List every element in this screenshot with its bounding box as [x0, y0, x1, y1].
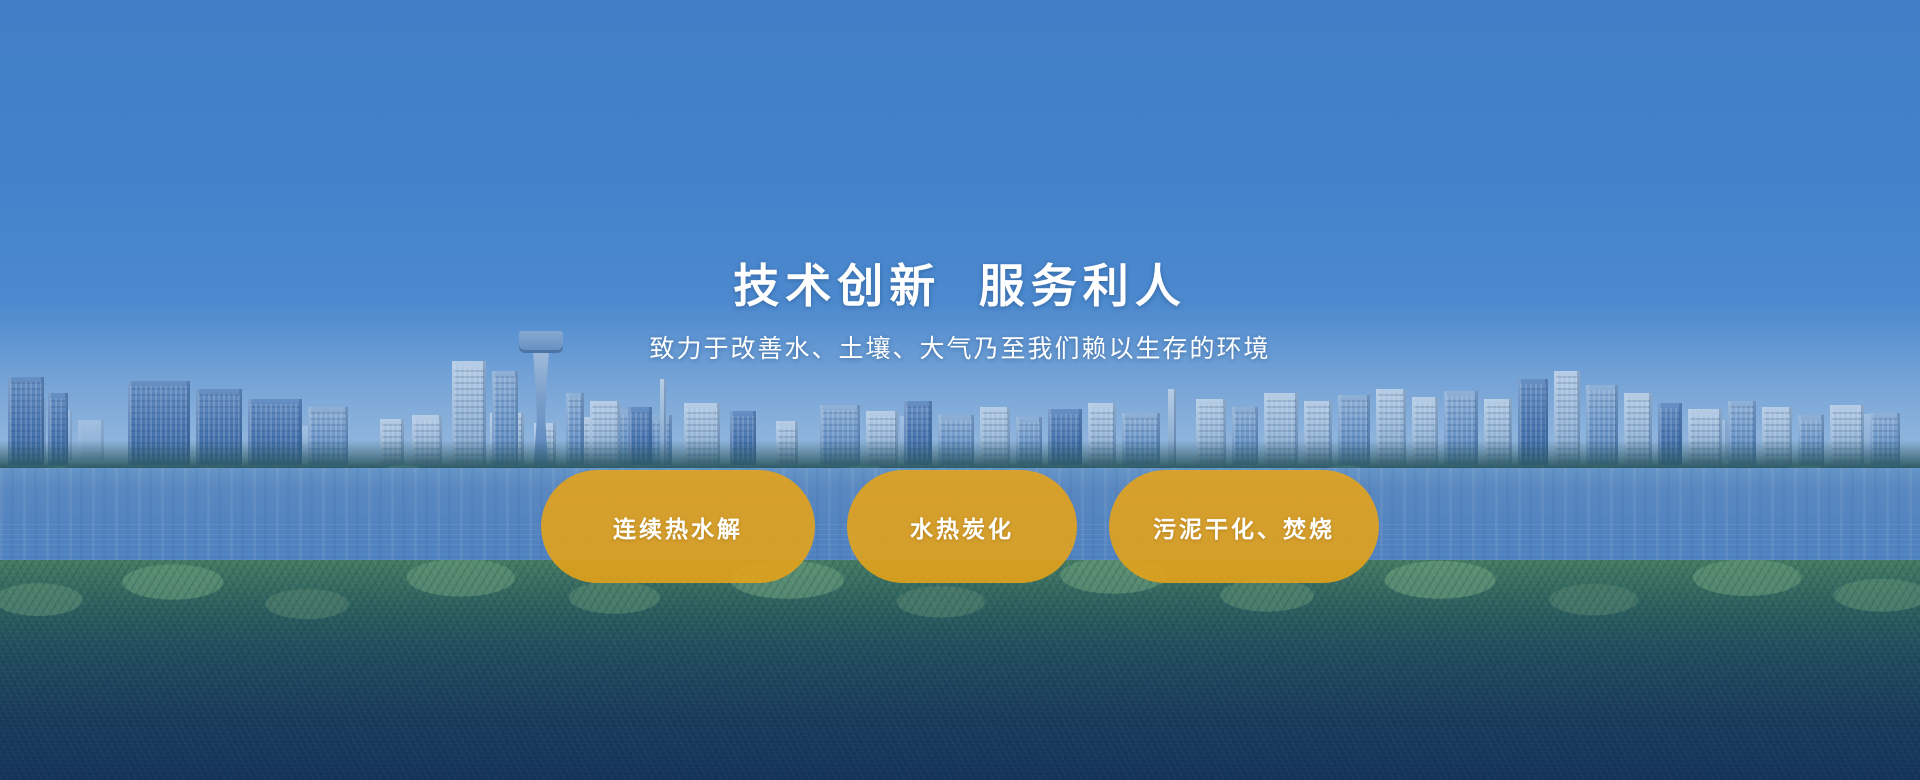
category-button-hydrothermal-carbonization[interactable]: 水热炭化 [847, 470, 1077, 583]
category-button-sludge-drying-incineration[interactable]: 污泥干化、焚烧 [1109, 470, 1379, 583]
page-title: 技术创新 服务利人 [0, 258, 1920, 316]
category-button-continuous-thermal-hydrolysis[interactable]: 连续热水解 [541, 470, 815, 583]
hero-banner: 技术创新 服务利人 致力于改善水、土壤、大气乃至我们赖以生存的环境 连续热水解 … [0, 0, 1920, 780]
page-subtitle: 致力于改善水、土壤、大气乃至我们赖以生存的环境 [0, 332, 1920, 367]
hero-copy-block: 技术创新 服务利人 致力于改善水、土壤、大气乃至我们赖以生存的环境 [0, 258, 1920, 367]
vegetation-tint [0, 560, 1920, 780]
category-button-row: 连续热水解 水热炭化 污泥干化、焚烧 [0, 470, 1920, 583]
